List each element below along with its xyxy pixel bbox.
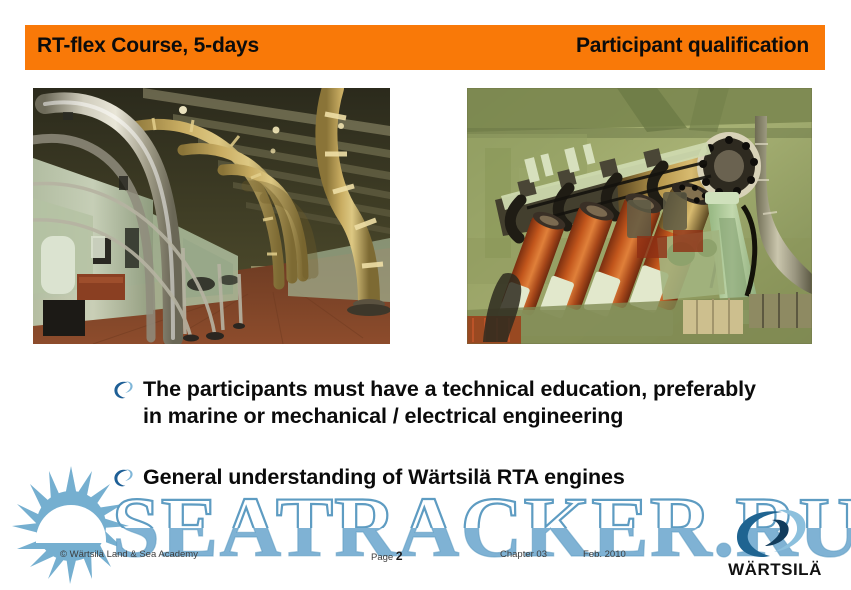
bullet-item-1: The participants must have a technical e… (112, 376, 772, 430)
footer-page-number: 2 (396, 549, 403, 563)
engine-room-exhaust-pipes-photo (33, 88, 390, 344)
bullet-item-2-text: General understanding of Wärtsilä RTA en… (143, 464, 625, 491)
footer-page: Page 2 (371, 549, 403, 563)
footer-chapter: Chapter 03 (500, 549, 547, 560)
wartsila-wordmark: WÄRTSILÄ (712, 560, 838, 580)
wartsila-swoosh-bullet-icon (112, 379, 134, 405)
marine-engine-hydraulic-cylinders-photo (467, 88, 812, 344)
slide-header-bar: RT-flex Course, 5-days Participant quali… (25, 25, 825, 70)
bullet-list: The participants must have a technical e… (112, 376, 772, 509)
sun-starburst-icon (12, 466, 130, 584)
footer-copyright: © Wärtsilä Land & Sea Academy (60, 549, 198, 560)
wartsila-swoosh-icon (712, 508, 838, 560)
bullet-item-2: General understanding of Wärtsilä RTA en… (112, 464, 772, 491)
wartsila-logo: WÄRTSILÄ (712, 508, 838, 580)
slide-canvas: RT-flex Course, 5-days Participant quali… (0, 0, 851, 590)
engine-room-photo-graphic (33, 88, 390, 344)
footer-date: Feb. 2010 (583, 549, 626, 560)
footer-page-label: Page (371, 552, 393, 563)
slide-topic-title: Participant qualification (576, 34, 809, 58)
marine-engine-photo-graphic (467, 88, 812, 344)
sun-starburst-watermark (12, 466, 130, 584)
course-title: RT-flex Course, 5-days (37, 34, 259, 58)
bullet-item-1-text: The participants must have a technical e… (143, 376, 772, 430)
